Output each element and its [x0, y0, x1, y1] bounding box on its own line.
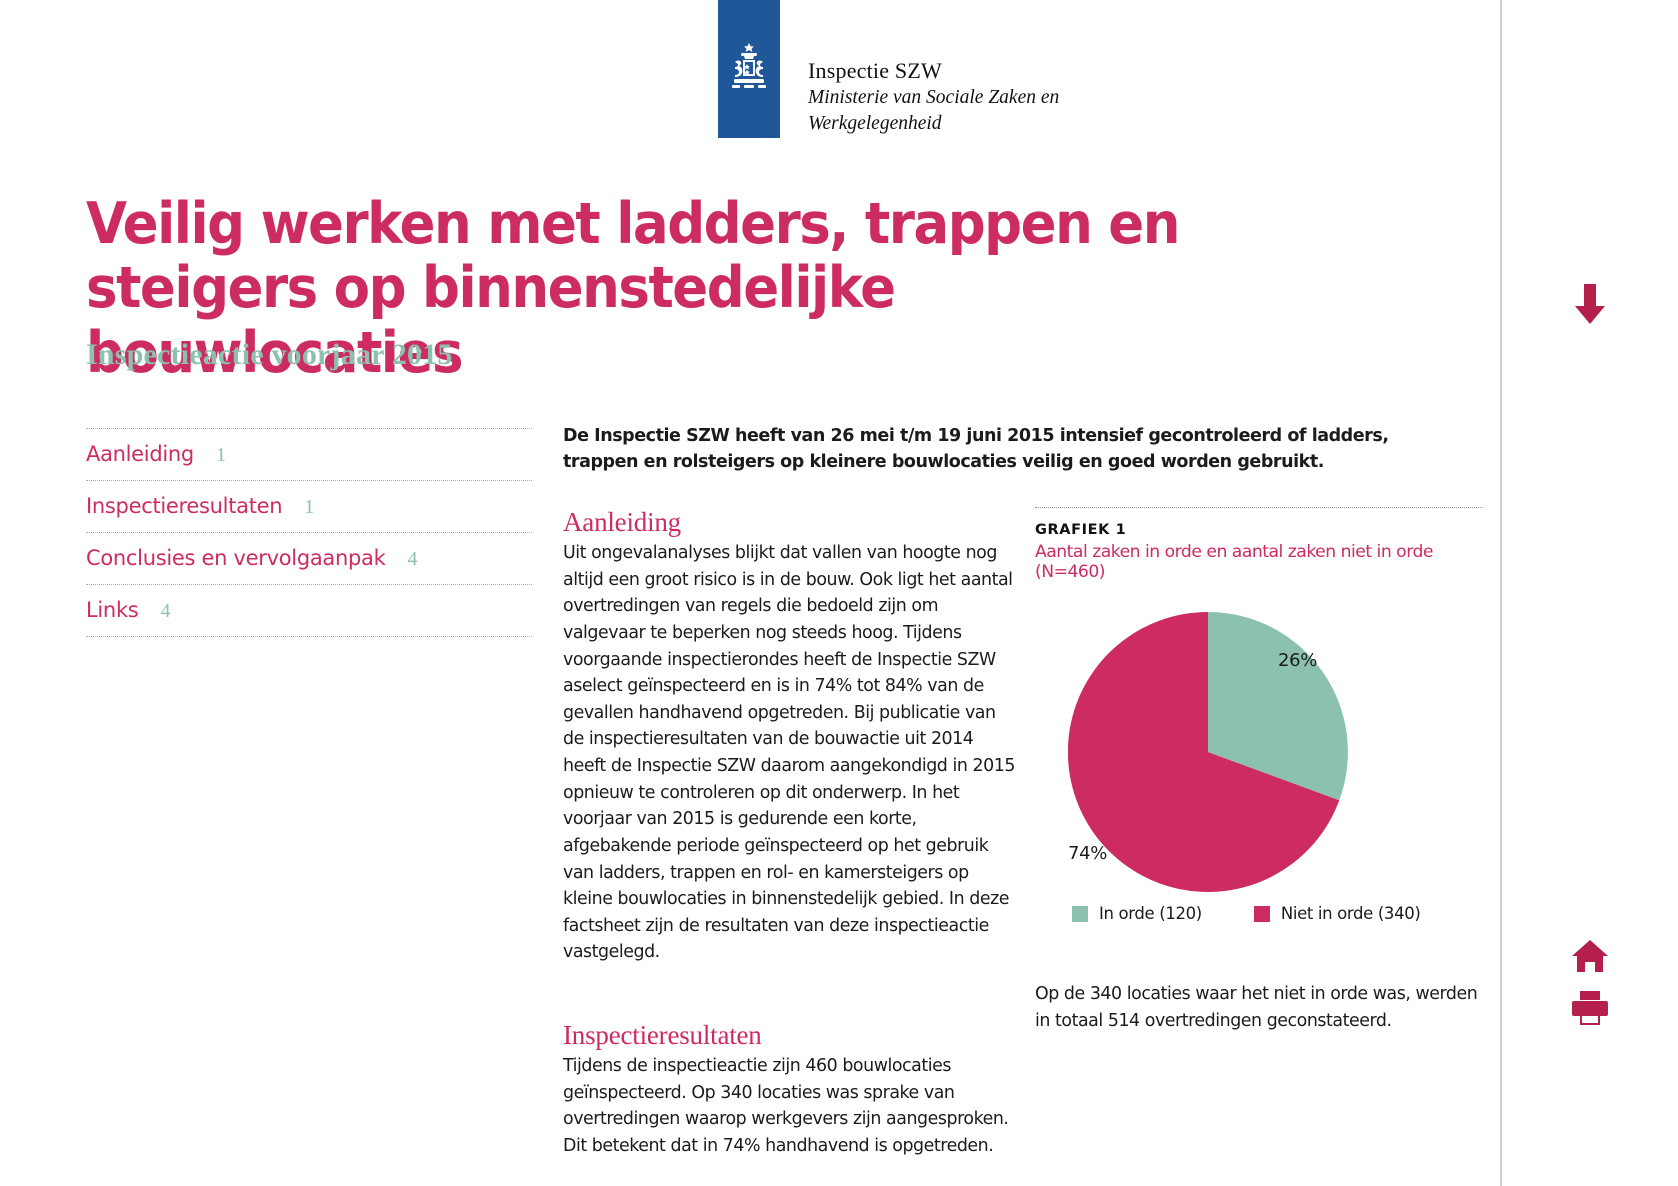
- legend-item-niet-in-orde: Niet in orde (340): [1254, 904, 1421, 923]
- legend-label: Niet in orde (340): [1281, 904, 1421, 923]
- toc-item-page: 1: [216, 444, 226, 467]
- toc-item-links[interactable]: Links 4: [86, 585, 532, 636]
- netherlands-coat-of-arms-icon: [727, 40, 771, 98]
- print-icon: [1570, 990, 1610, 1026]
- logo-line-3: Werkgelegenheid: [808, 111, 1059, 137]
- body-column-right: GRAFIEK 1 Aantal zaken in orde en aantal…: [1035, 507, 1483, 1034]
- document-page: Inspectie SZW Ministerie van Sociale Zak…: [0, 0, 1678, 1186]
- right-column-note: Op de 340 locaties waar het niet in orde…: [1035, 981, 1483, 1034]
- toc-item-page: 4: [407, 548, 417, 571]
- toc-item-inspectieresultaten[interactable]: Inspectieresultaten 1: [86, 481, 532, 532]
- chart-legend: In orde (120) Niet in orde (340): [1035, 904, 1483, 923]
- toc-item-page: 1: [304, 496, 314, 519]
- scroll-down-button[interactable]: [1570, 282, 1610, 331]
- pie-chart: 26% 74%: [1035, 594, 1483, 894]
- home-icon: [1570, 938, 1610, 974]
- print-button[interactable]: [1570, 990, 1610, 1031]
- table-of-contents: Aanleiding 1 Inspectieresultaten 1 Concl…: [86, 428, 532, 637]
- toc-item-label: Links: [86, 598, 138, 622]
- section-heading-aanleiding: Aanleiding: [563, 507, 1015, 538]
- pie-label-in-orde: 26%: [1278, 650, 1317, 671]
- toc-item-label: Aanleiding: [86, 442, 194, 466]
- section-heading-inspectieresultaten: Inspectieresultaten: [563, 1020, 1015, 1051]
- reader-toolbar: [1500, 0, 1678, 1186]
- page-subtitle: Inspectieactie voorjaar 2015: [86, 338, 453, 372]
- chart-kicker: GRAFIEK 1: [1035, 522, 1483, 538]
- chart-top-divider: [1035, 507, 1483, 508]
- organisation-logo: Inspectie SZW Ministerie van Sociale Zak…: [718, 0, 1059, 138]
- section-body-aanleiding: Uit ongevalanalyses blijkt dat vallen va…: [563, 540, 1015, 966]
- chart-panel: GRAFIEK 1 Aantal zaken in orde en aantal…: [1035, 507, 1483, 923]
- toc-item-aanleiding[interactable]: Aanleiding 1: [86, 429, 532, 480]
- legend-item-in-orde: In orde (120): [1072, 904, 1202, 923]
- legend-label: In orde (120): [1099, 904, 1202, 923]
- chart-title: Aantal zaken in orde en aantal zaken nie…: [1035, 542, 1483, 582]
- legend-swatch-green: [1072, 906, 1088, 922]
- logo-line-2: Ministerie van Sociale Zaken en: [808, 85, 1059, 111]
- home-button[interactable]: [1570, 938, 1610, 979]
- toc-item-page: 4: [160, 600, 170, 623]
- toc-item-label: Inspectieresultaten: [86, 494, 282, 518]
- body-column-left: Aanleiding Uit ongevalanalyses blijkt da…: [563, 507, 1015, 1160]
- legend-swatch-pink: [1254, 906, 1270, 922]
- section-body-inspectieresultaten: Tijdens de inspectieactie zijn 460 bouwl…: [563, 1053, 1015, 1160]
- toc-item-label: Conclusies en vervolgaanpak: [86, 546, 385, 570]
- toc-divider: [86, 636, 532, 637]
- logo-wordmark: Inspectie SZW Ministerie van Sociale Zak…: [808, 0, 1059, 137]
- arrow-down-icon: [1570, 282, 1610, 326]
- toc-item-conclusies-en-vervolgaanpak[interactable]: Conclusies en vervolgaanpak 4: [86, 533, 532, 584]
- pie-label-niet-in-orde: 74%: [1068, 843, 1107, 864]
- logo-blue-bar: [718, 0, 780, 138]
- logo-line-1: Inspectie SZW: [808, 56, 1059, 85]
- lead-paragraph: De Inspectie SZW heeft van 26 mei t/m 19…: [563, 424, 1468, 475]
